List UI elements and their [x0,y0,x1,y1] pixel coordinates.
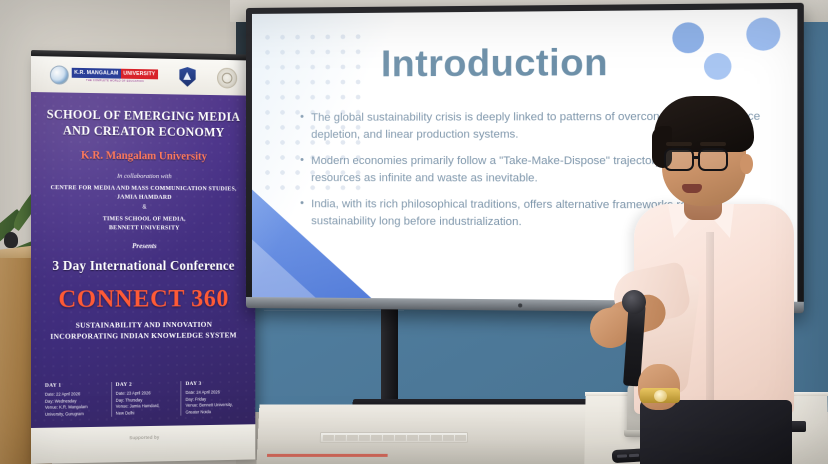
presenter [596,92,828,464]
slide-circle-decoration-3 [704,53,732,80]
podium-microphone [4,232,18,248]
banner-footer-label: Supported by [129,435,159,440]
display-sensor-dot [518,303,522,307]
glasses-lens-left [664,148,694,171]
presenter-ear [740,154,753,174]
banner-conference-line: 3 Day International Conference [41,258,246,274]
presentation-scene: K.R. MANGALAM UNIVERSITY THE COMPLETE WO… [0,0,828,464]
banner-ampersand: & [41,203,246,211]
banner-event-title: CONNECT 360 [41,286,246,315]
jamia-hamdard-shield-logo [179,67,195,87]
schedule-day-2: DAY 2 Date: 23 April 2026 Day: Thursday … [111,381,177,417]
slide-circle-decoration-1 [672,22,704,53]
logo-wordmark-primary: K.R. MANGALAM [72,68,121,78]
krm-seal-logo: K.R. MANGALAM UNIVERSITY THE COMPLETE WO… [50,65,158,86]
slide-circle-decoration-2 [746,17,780,50]
banner-schedule: DAY 1 Date: 22 April 2026 Day: Wednesday… [41,380,246,417]
keyboard[interactable] [320,432,468,443]
presenter-left-hand [638,364,680,410]
banner-partner-two: TIMES SCHOOL OF MEDIA, BENNETT UNIVERSIT… [41,215,246,234]
cabinet-red-stripe [267,454,388,457]
glasses-lens-right [698,148,728,171]
banner-body: SCHOOL OF EMERGING MEDIA AND CREATOR ECO… [31,92,255,428]
banner-school-name: SCHOOL OF EMERGING MEDIA AND CREATOR ECO… [41,106,246,141]
wristwatch [640,388,680,403]
bennett-university-circle-logo [217,67,237,88]
shirt-placket [706,232,714,407]
banner-university-name: K.R. Mangalam University [41,149,246,163]
banner-partner-one: CENTRE FOR MEDIA AND MASS COMMUNICATION … [41,184,246,203]
schedule-day-3: DAY 3 Date: 24 April 2026 Day: Friday Ve… [181,380,246,415]
banner-collaboration-label: In collaboration with [41,172,246,181]
schedule-day-1: DAY 1 Date: 22 April 2026 Day: Wednesday… [41,382,107,418]
conference-standee-banner: K.R. MANGALAM UNIVERSITY THE COMPLETE WO… [31,56,255,464]
presenter-mouth [682,184,702,193]
banner-footer: Supported by [31,424,255,464]
glasses-bridge [694,156,700,159]
slide-title: Introduction [381,41,608,85]
logo-wordmark-secondary: UNIVERSITY [121,69,158,79]
presenter-eyebrow-left [666,142,692,146]
banner-logo-strip: K.R. MANGALAM UNIVERSITY THE COMPLETE WO… [31,56,255,96]
banner-event-subtitle: SUSTAINABILITY AND INNOVATION INCORPORAT… [41,319,246,342]
presenter-eyebrow-right [700,142,726,146]
banner-presents-label: Presents [41,242,246,250]
watch-face [654,390,667,402]
logo-tagline: THE COMPLETE WORLD OF EDUCATION [86,79,144,83]
